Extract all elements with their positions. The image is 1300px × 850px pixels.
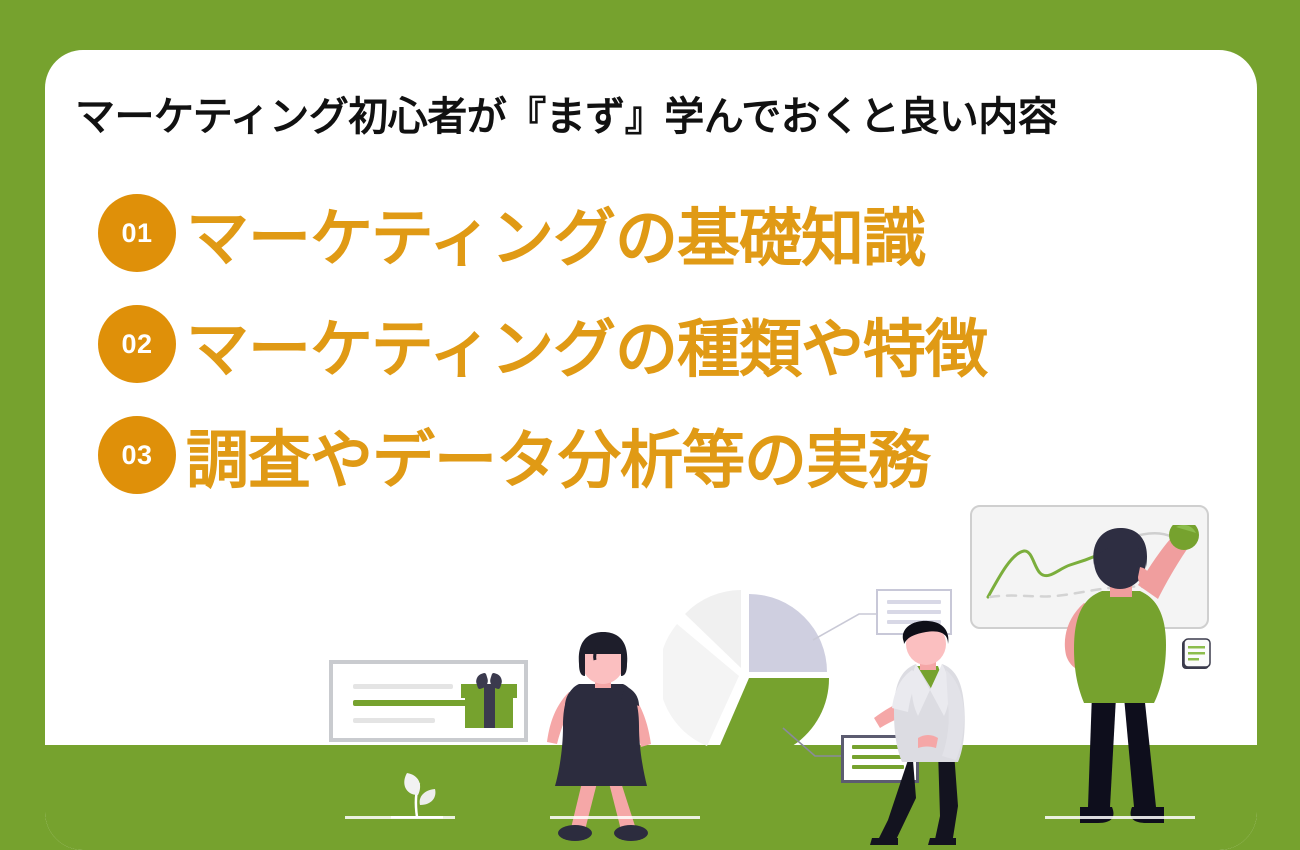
presenter-figure <box>1040 525 1215 845</box>
callout-line <box>887 600 941 604</box>
item-number-badge: 01 <box>98 194 176 272</box>
topic-list: 01 マーケティングの基礎知識 02 マーケティングの種類や特徴 03 調査やデ… <box>98 180 1218 513</box>
woman-figure <box>525 630 685 845</box>
analyst-figure <box>860 620 1010 845</box>
list-item[interactable]: 01 マーケティングの基礎知識 <box>98 180 1218 291</box>
ground-mark <box>1045 816 1195 819</box>
ground-mark <box>550 816 700 819</box>
card-text-line <box>353 684 453 689</box>
note-document-icon <box>1180 637 1212 671</box>
item-number-badge: 02 <box>98 305 176 383</box>
callout-line <box>887 610 941 614</box>
card-text-line <box>353 718 435 723</box>
card-text-line-highlight <box>353 700 471 706</box>
content-card: マーケティング初心者が『まず』学んでおくと良い内容 01 マーケティングの基礎知… <box>45 50 1257 850</box>
list-item[interactable]: 02 マーケティングの種類や特徴 <box>98 291 1218 402</box>
page-title: マーケティング初心者が『まず』学んでおくと良い内容 <box>75 97 1235 137</box>
gift-box-icon <box>461 674 517 726</box>
slide-canvas: マーケティング初心者が『まず』学んでおくと良い内容 01 マーケティングの基礎知… <box>0 0 1300 800</box>
item-label: マーケティングの種類や特徴 <box>186 291 987 397</box>
illustration-band <box>45 480 1257 850</box>
gift-card-panel <box>329 660 528 742</box>
item-label: マーケティングの基礎知識 <box>186 180 925 286</box>
ground-mark <box>345 816 455 819</box>
